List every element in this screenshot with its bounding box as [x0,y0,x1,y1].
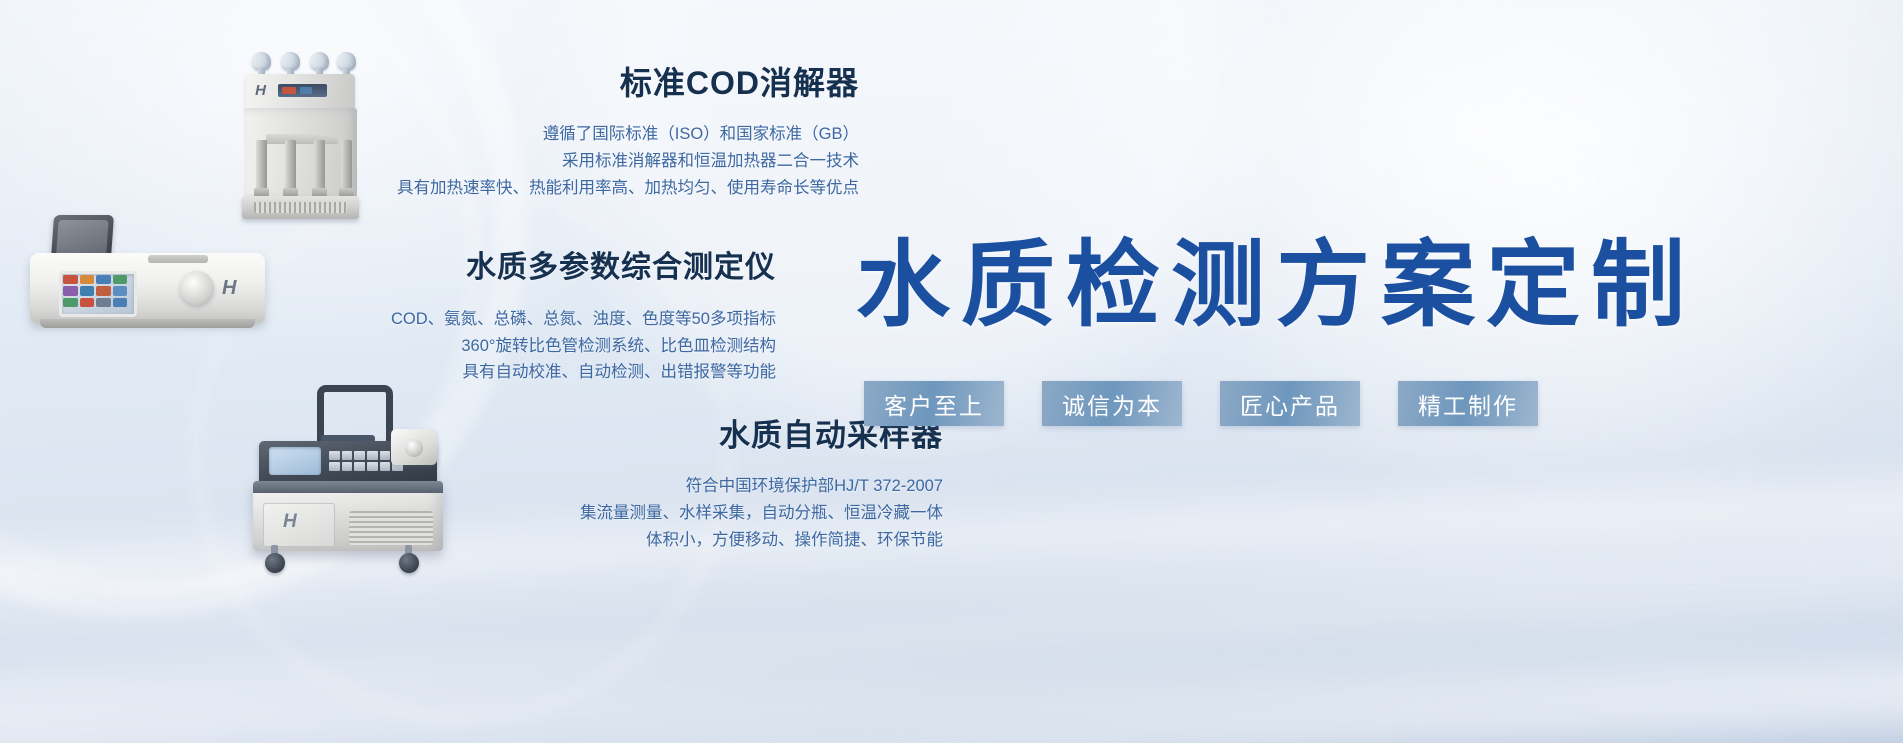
slogan-badge[interactable]: 精工制作 [1398,381,1538,426]
product-feature-line: 具有加热速率快、热能利用率高、加热均匀、使用寿命长等优点 [389,175,859,202]
slogan-badge[interactable]: 诚信为本 [1042,381,1182,426]
brand-mark-icon: H [283,511,297,533]
product-block-multiparameter-analyzer: H 水质多参数综合测定仪 COD、氨氮、总磷、总氮、浊度、色度等50多项指标 3… [30,215,776,386]
product-feature-line: 遵循了国际标准（ISO）和国家标准（GB） [389,121,859,148]
water-auto-sampler-photo: H [245,385,450,575]
product-text-multiparameter-analyzer: 水质多参数综合测定仪 COD、氨氮、总磷、总氮、浊度、色度等50多项指标 360… [281,215,776,386]
page-title: 水质检测方案定制 [856,238,1866,332]
slogan-badge-label: 精工制作 [1418,387,1518,421]
product-feature-line: 符合中国环境保护部HJ/T 372-2007 [468,473,943,500]
cod-digester-photo: H [238,44,363,219]
product-feature-line: 体积小，方便移动、操作简捷、环保节能 [468,527,943,554]
slogan-badge-label: 诚信为本 [1062,387,1162,421]
background-wave-3 [0,616,1903,743]
product-feature-line: COD、氨氮、总磷、总氮、浊度、色度等50多项指标 [281,306,776,333]
slogan-badge[interactable]: 匠心产品 [1220,381,1360,426]
product-block-auto-sampler: H 水质自动采样器 符合中国环境保护部HJ/T 372-2007 集流量测量、水… [245,385,943,575]
slogan-badge[interactable]: 客户至上 [864,381,1004,426]
product-feature-line: 集流量测量、水样采集，自动分瓶、恒温冷藏一体 [468,500,943,527]
product-feature-line: 采用标准消解器和恒温加热器二合一技术 [389,148,859,175]
promo-banner: H 标准COD消解器 遵循了国际标准（ISO）和国家标准（GB） 采用标准消解器… [0,0,1903,743]
slogan-badge-label: 匠心产品 [1240,387,1340,421]
water-multiparameter-analyzer-photo: H [30,215,265,333]
brand-mark-icon: H [252,82,269,99]
product-block-cod-digester: H 标准COD消解器 遵循了国际标准（ISO）和国家标准（GB） 采用标准消解器… [238,44,859,219]
brand-mark-icon: H [222,277,236,300]
product-feature-line: 360°旋转比色管检测系统、比色皿检测结构 [281,333,776,360]
product-title: 标准COD消解器 [389,66,859,101]
product-feature-line: 具有自动校准、自动检测、出错报警等功能 [281,359,776,386]
product-text-cod-digester: 标准COD消解器 遵循了国际标准（ISO）和国家标准（GB） 采用标准消解器和恒… [389,44,859,201]
product-title: 水质多参数综合测定仪 [281,251,776,284]
slogan-badge-list: 客户至上 诚信为本 匠心产品 精工制作 [864,381,1538,426]
background-wave-4 [0,648,1903,743]
slogan-badge-label: 客户至上 [884,387,984,421]
